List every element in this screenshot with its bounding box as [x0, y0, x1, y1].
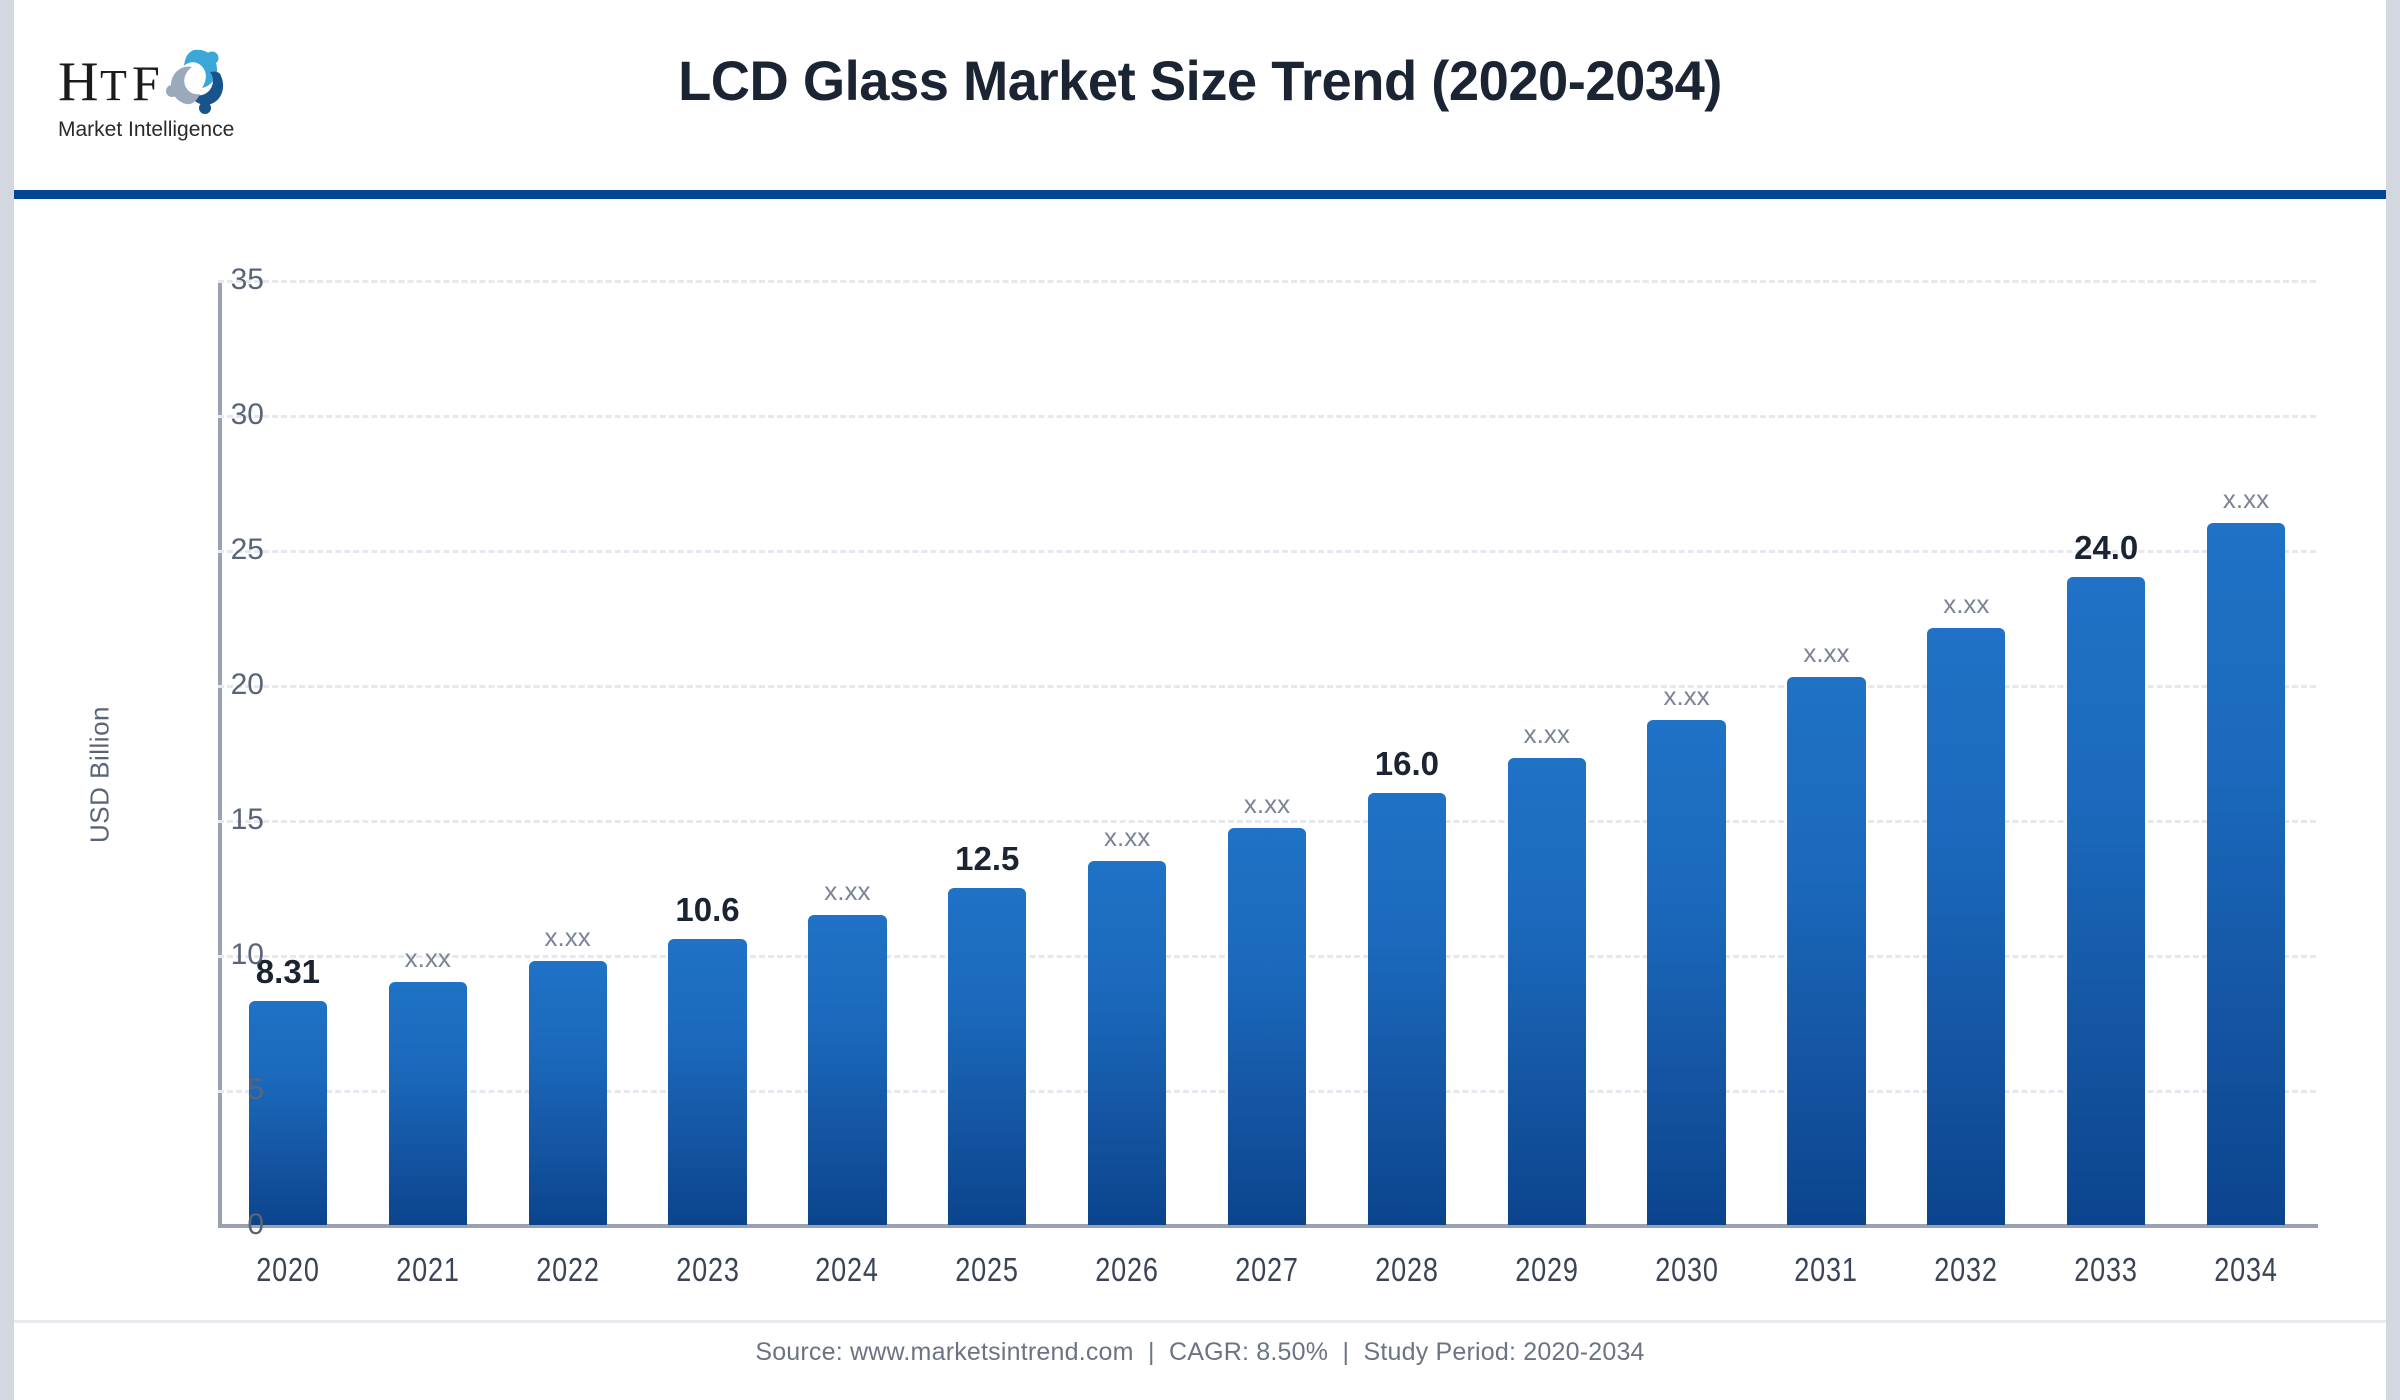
y-axis-tick-label: 15: [144, 803, 264, 837]
bar-2027[interactable]: x.xx: [1228, 828, 1306, 1225]
footer-sep-1: |: [1134, 1338, 1169, 1366]
bar-2028[interactable]: 16.0: [1368, 793, 1446, 1225]
bar-rect[interactable]: [1368, 793, 1446, 1225]
bar-2031[interactable]: x.xx: [1787, 677, 1865, 1225]
header-divider: [14, 190, 2386, 199]
bar-rect[interactable]: [249, 1001, 327, 1225]
chart-page: H T F Market Intelligence: [0, 0, 2400, 1400]
bar-2030[interactable]: x.xx: [1647, 720, 1725, 1225]
svg-text:Market Intelligence: Market Intelligence: [58, 118, 234, 141]
footer-study-period: Study Period: 2020-2034: [1363, 1338, 1644, 1366]
page-title: LCD Glass Market Size Trend (2020-2034): [50, 48, 2351, 113]
bar-value-label: x.xx: [1557, 681, 1817, 712]
bar-rect[interactable]: [1647, 720, 1725, 1225]
bar-rect[interactable]: [2207, 523, 2285, 1225]
x-axis-tick-2034: 2034: [2156, 1251, 2336, 1289]
page-header: H T F Market Intelligence: [14, 0, 2386, 195]
bar-rect[interactable]: [1927, 628, 2005, 1225]
bar-rect[interactable]: [668, 939, 746, 1225]
bar-value-label: x.xx: [1137, 789, 1397, 820]
bar-value-label: x.xx: [717, 876, 977, 907]
bar-2032[interactable]: x.xx: [1927, 628, 2005, 1225]
bar-rect[interactable]: [808, 915, 886, 1226]
bar-value-label: x.xx: [2116, 484, 2376, 515]
bar-value-label: x.xx: [1696, 638, 1956, 669]
footer-source: Source: www.marketsintrend.com: [755, 1338, 1133, 1366]
footer-cagr: CAGR: 8.50%: [1169, 1338, 1328, 1366]
gridline: [218, 280, 2316, 283]
bar-value-label: x.xx: [1836, 589, 2096, 620]
bar-2029[interactable]: x.xx: [1508, 758, 1586, 1225]
bar-2025[interactable]: 12.5: [948, 888, 1026, 1226]
bar-rect[interactable]: [948, 888, 1026, 1226]
footer-note: Source: www.marketsintrend.com | CAGR: 8…: [14, 1338, 2386, 1367]
footer-sep-2: |: [1328, 1338, 1363, 1366]
footer-divider: [14, 1320, 2386, 1323]
bar-rect[interactable]: [529, 961, 607, 1225]
bar-2024[interactable]: x.xx: [808, 915, 886, 1226]
bar-2022[interactable]: x.xx: [529, 961, 607, 1225]
plot-area: 8.31x.xxx.xx10.6x.xx12.5x.xxx.xx16.0x.xx…: [218, 280, 2316, 1225]
bar-rect[interactable]: [389, 982, 467, 1225]
bar-value-label: 24.0: [1976, 529, 2236, 567]
bar-value-label: x.xx: [997, 822, 1257, 853]
bar-2020[interactable]: 8.31: [249, 1001, 327, 1225]
bar-2034[interactable]: x.xx: [2207, 523, 2285, 1225]
y-axis-tick-label: 35: [144, 263, 264, 297]
bar-2023[interactable]: 10.6: [668, 939, 746, 1225]
y-axis-label: USD Billion: [85, 645, 116, 905]
chart-canvas: USD Billion 8.31x.xxx.xx10.6x.xx12.5x.xx…: [14, 199, 2386, 1299]
y-axis-tick-label: 5: [144, 1073, 264, 1107]
bar-rect[interactable]: [2067, 577, 2145, 1225]
bar-rect[interactable]: [1088, 861, 1166, 1226]
y-axis-tick-label: 30: [144, 398, 264, 432]
y-axis-tick-label: 20: [144, 668, 264, 702]
bar-value-label: x.xx: [1417, 719, 1677, 750]
y-axis-tick-label: 0: [144, 1208, 264, 1242]
bar-value-label: 16.0: [1277, 745, 1537, 783]
y-axis-tick-label: 25: [144, 533, 264, 567]
bar-rect[interactable]: [1787, 677, 1865, 1225]
bar-2021[interactable]: x.xx: [389, 982, 467, 1225]
gridline: [218, 415, 2316, 418]
bar-rect[interactable]: [1508, 758, 1586, 1225]
bar-2033[interactable]: 24.0: [2067, 577, 2145, 1225]
y-axis-tick-label: 10: [144, 938, 264, 972]
bar-rect[interactable]: [1228, 828, 1306, 1225]
bar-2026[interactable]: x.xx: [1088, 861, 1166, 1226]
